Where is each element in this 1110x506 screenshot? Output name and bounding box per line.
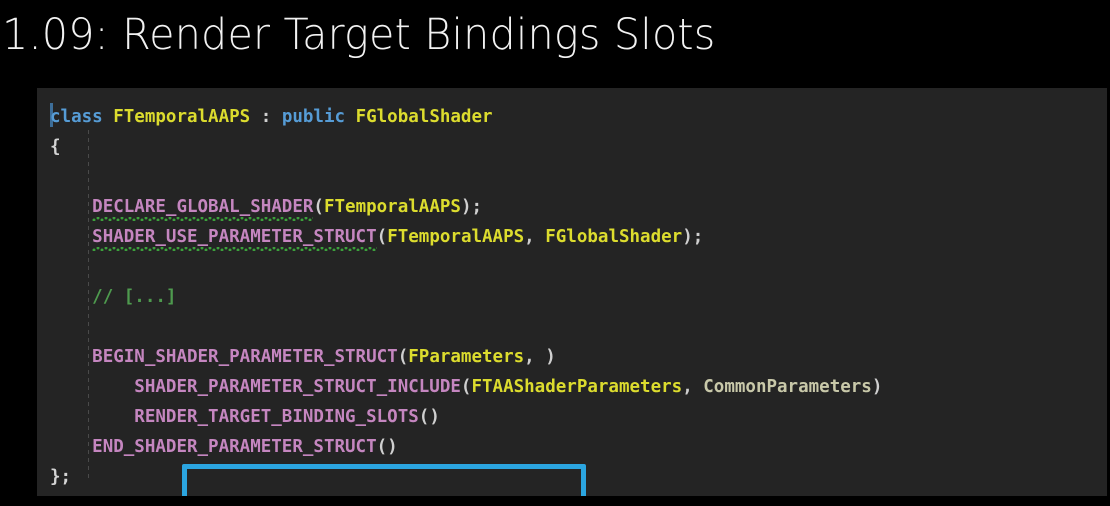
code-line-blank[interactable] — [37, 252, 1107, 282]
macro-arg: FGlobalShader — [545, 227, 682, 247]
macro-end-shader-parameter-struct: END_SHADER_PARAMETER_STRUCT — [92, 437, 376, 457]
code-line[interactable]: // [...] — [37, 282, 1107, 312]
code-line[interactable]: BEGIN_SHADER_PARAMETER_STRUCT(FParameter… — [37, 342, 1107, 372]
macro-shader-use-parameter-struct: SHADER_USE_PARAMETER_STRUCT — [92, 222, 376, 252]
macro-render-target-binding-slots: RENDER_TARGET_BINDING_SLOTS — [134, 407, 418, 427]
macro-begin-shader-parameter-struct: BEGIN_SHADER_PARAMETER_STRUCT — [92, 347, 398, 367]
keyword-class: class — [50, 107, 103, 127]
inheritance-colon: : — [250, 107, 282, 127]
macro-arg: FTemporalAAPS — [324, 197, 461, 217]
code-comment: // [...] — [92, 287, 176, 307]
code-line[interactable]: }; — [37, 462, 1107, 492]
code-line-blank[interactable] — [37, 162, 1107, 192]
page-title: 1.09: Render Target Bindings Slots — [2, 2, 1039, 68]
brace-open: { — [50, 137, 61, 157]
macro-shader-parameter-struct-include: SHADER_PARAMETER_STRUCT_INCLUDE — [134, 377, 461, 397]
code-line[interactable]: { — [37, 132, 1107, 162]
macro-arg: FTemporalAAPS — [387, 227, 524, 247]
keyword-public: public — [282, 107, 345, 127]
macro-arg: FParameters — [408, 347, 524, 367]
class-name: FTemporalAAPS — [113, 107, 250, 127]
base-class-name: FGlobalShader — [356, 107, 493, 127]
macro-declare-global-shader: DECLARE_GLOBAL_SHADER — [92, 192, 313, 222]
slide-root: 1.09: Render Target Bindings Slots class… — [0, 0, 1110, 506]
code-line[interactable]: SHADER_PARAMETER_STRUCT_INCLUDE(FTAAShad… — [37, 372, 1107, 402]
macro-arg: CommonParameters — [703, 377, 872, 397]
brace-close: }; — [50, 467, 71, 487]
code-window: class FTemporalAAPS : public FGlobalShad… — [37, 88, 1107, 496]
code-line[interactable]: SHADER_USE_PARAMETER_STRUCT(FTemporalAAP… — [37, 222, 1107, 252]
code-line[interactable]: class FTemporalAAPS : public FGlobalShad… — [37, 102, 1107, 132]
code-line[interactable]: END_SHADER_PARAMETER_STRUCT() — [37, 432, 1107, 462]
code-line[interactable]: DECLARE_GLOBAL_SHADER(FTemporalAAPS); — [37, 192, 1107, 222]
code-content: class FTemporalAAPS : public FGlobalShad… — [37, 88, 1107, 496]
code-line-highlighted[interactable]: RENDER_TARGET_BINDING_SLOTS() — [37, 402, 1107, 432]
code-line-blank[interactable] — [37, 312, 1107, 342]
macro-arg: FTAAShaderParameters — [471, 377, 682, 397]
